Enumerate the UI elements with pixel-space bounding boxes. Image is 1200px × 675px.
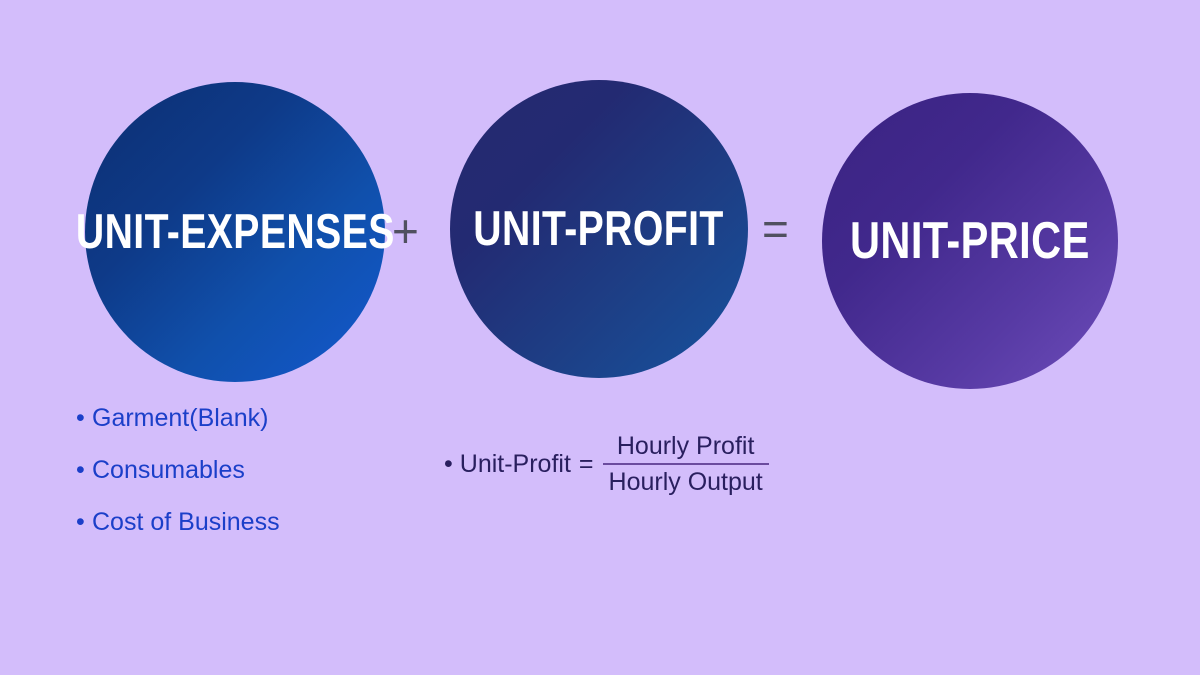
bullet-icon: • — [444, 452, 453, 477]
circle-label-unit-expenses: UNIT-EXPENSES — [76, 208, 395, 257]
bullet-icon: • — [76, 510, 92, 535]
circle-label-unit-profit: UNIT-PROFIT — [474, 205, 724, 254]
list-item: • Garment(Blank) — [76, 406, 280, 431]
formula-left-side: Unit-Profit — [460, 452, 571, 477]
circle-unit-price: UNIT-PRICE — [822, 93, 1118, 389]
circle-unit-expenses: UNIT-EXPENSES — [85, 82, 385, 382]
expenses-item-label: Garment(Blank) — [92, 406, 268, 431]
expenses-breakdown-list: • Garment(Blank) • Consumables • Cost of… — [76, 406, 280, 535]
diagram-canvas: UNIT-EXPENSES + UNIT-PROFIT = UNIT-PRICE… — [0, 0, 1200, 675]
equals-operator-icon: = — [762, 206, 789, 252]
expenses-item-label: Consumables — [92, 458, 245, 483]
circle-label-unit-price: UNIT-PRICE — [850, 215, 1090, 267]
formula-fraction: Hourly Profit Hourly Output — [603, 432, 769, 496]
fraction-denominator: Hourly Output — [603, 465, 769, 496]
plus-operator-icon: + — [392, 208, 419, 254]
bullet-icon: • — [76, 458, 92, 483]
expenses-item-label: Cost of Business — [92, 510, 280, 535]
list-item: • Consumables — [76, 458, 280, 483]
circle-unit-profit: UNIT-PROFIT — [450, 80, 748, 378]
fraction-numerator: Hourly Profit — [611, 432, 761, 463]
formula-equals-sign: = — [579, 452, 594, 477]
unit-profit-formula: • Unit-Profit = Hourly Profit Hourly Out… — [444, 432, 769, 496]
list-item: • Cost of Business — [76, 510, 280, 535]
bullet-icon: • — [76, 406, 92, 431]
